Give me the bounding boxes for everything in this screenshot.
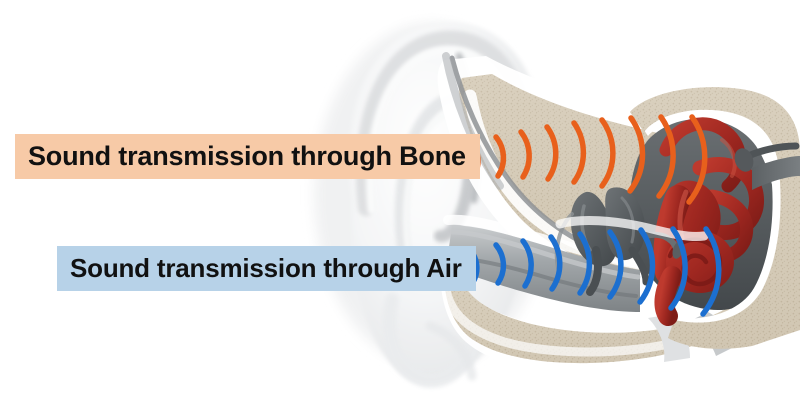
label-bone-text: Sound transmission through Bone <box>28 141 466 172</box>
label-sound-transmission-air: Sound transmission through Air <box>57 246 476 291</box>
ear-anatomy-illustration <box>0 0 800 402</box>
label-sound-transmission-bone: Sound transmission through Bone <box>15 134 480 179</box>
illustration-canvas: Sound transmission through Bone Sound tr… <box>0 0 800 402</box>
label-air-text: Sound transmission through Air <box>70 253 462 284</box>
